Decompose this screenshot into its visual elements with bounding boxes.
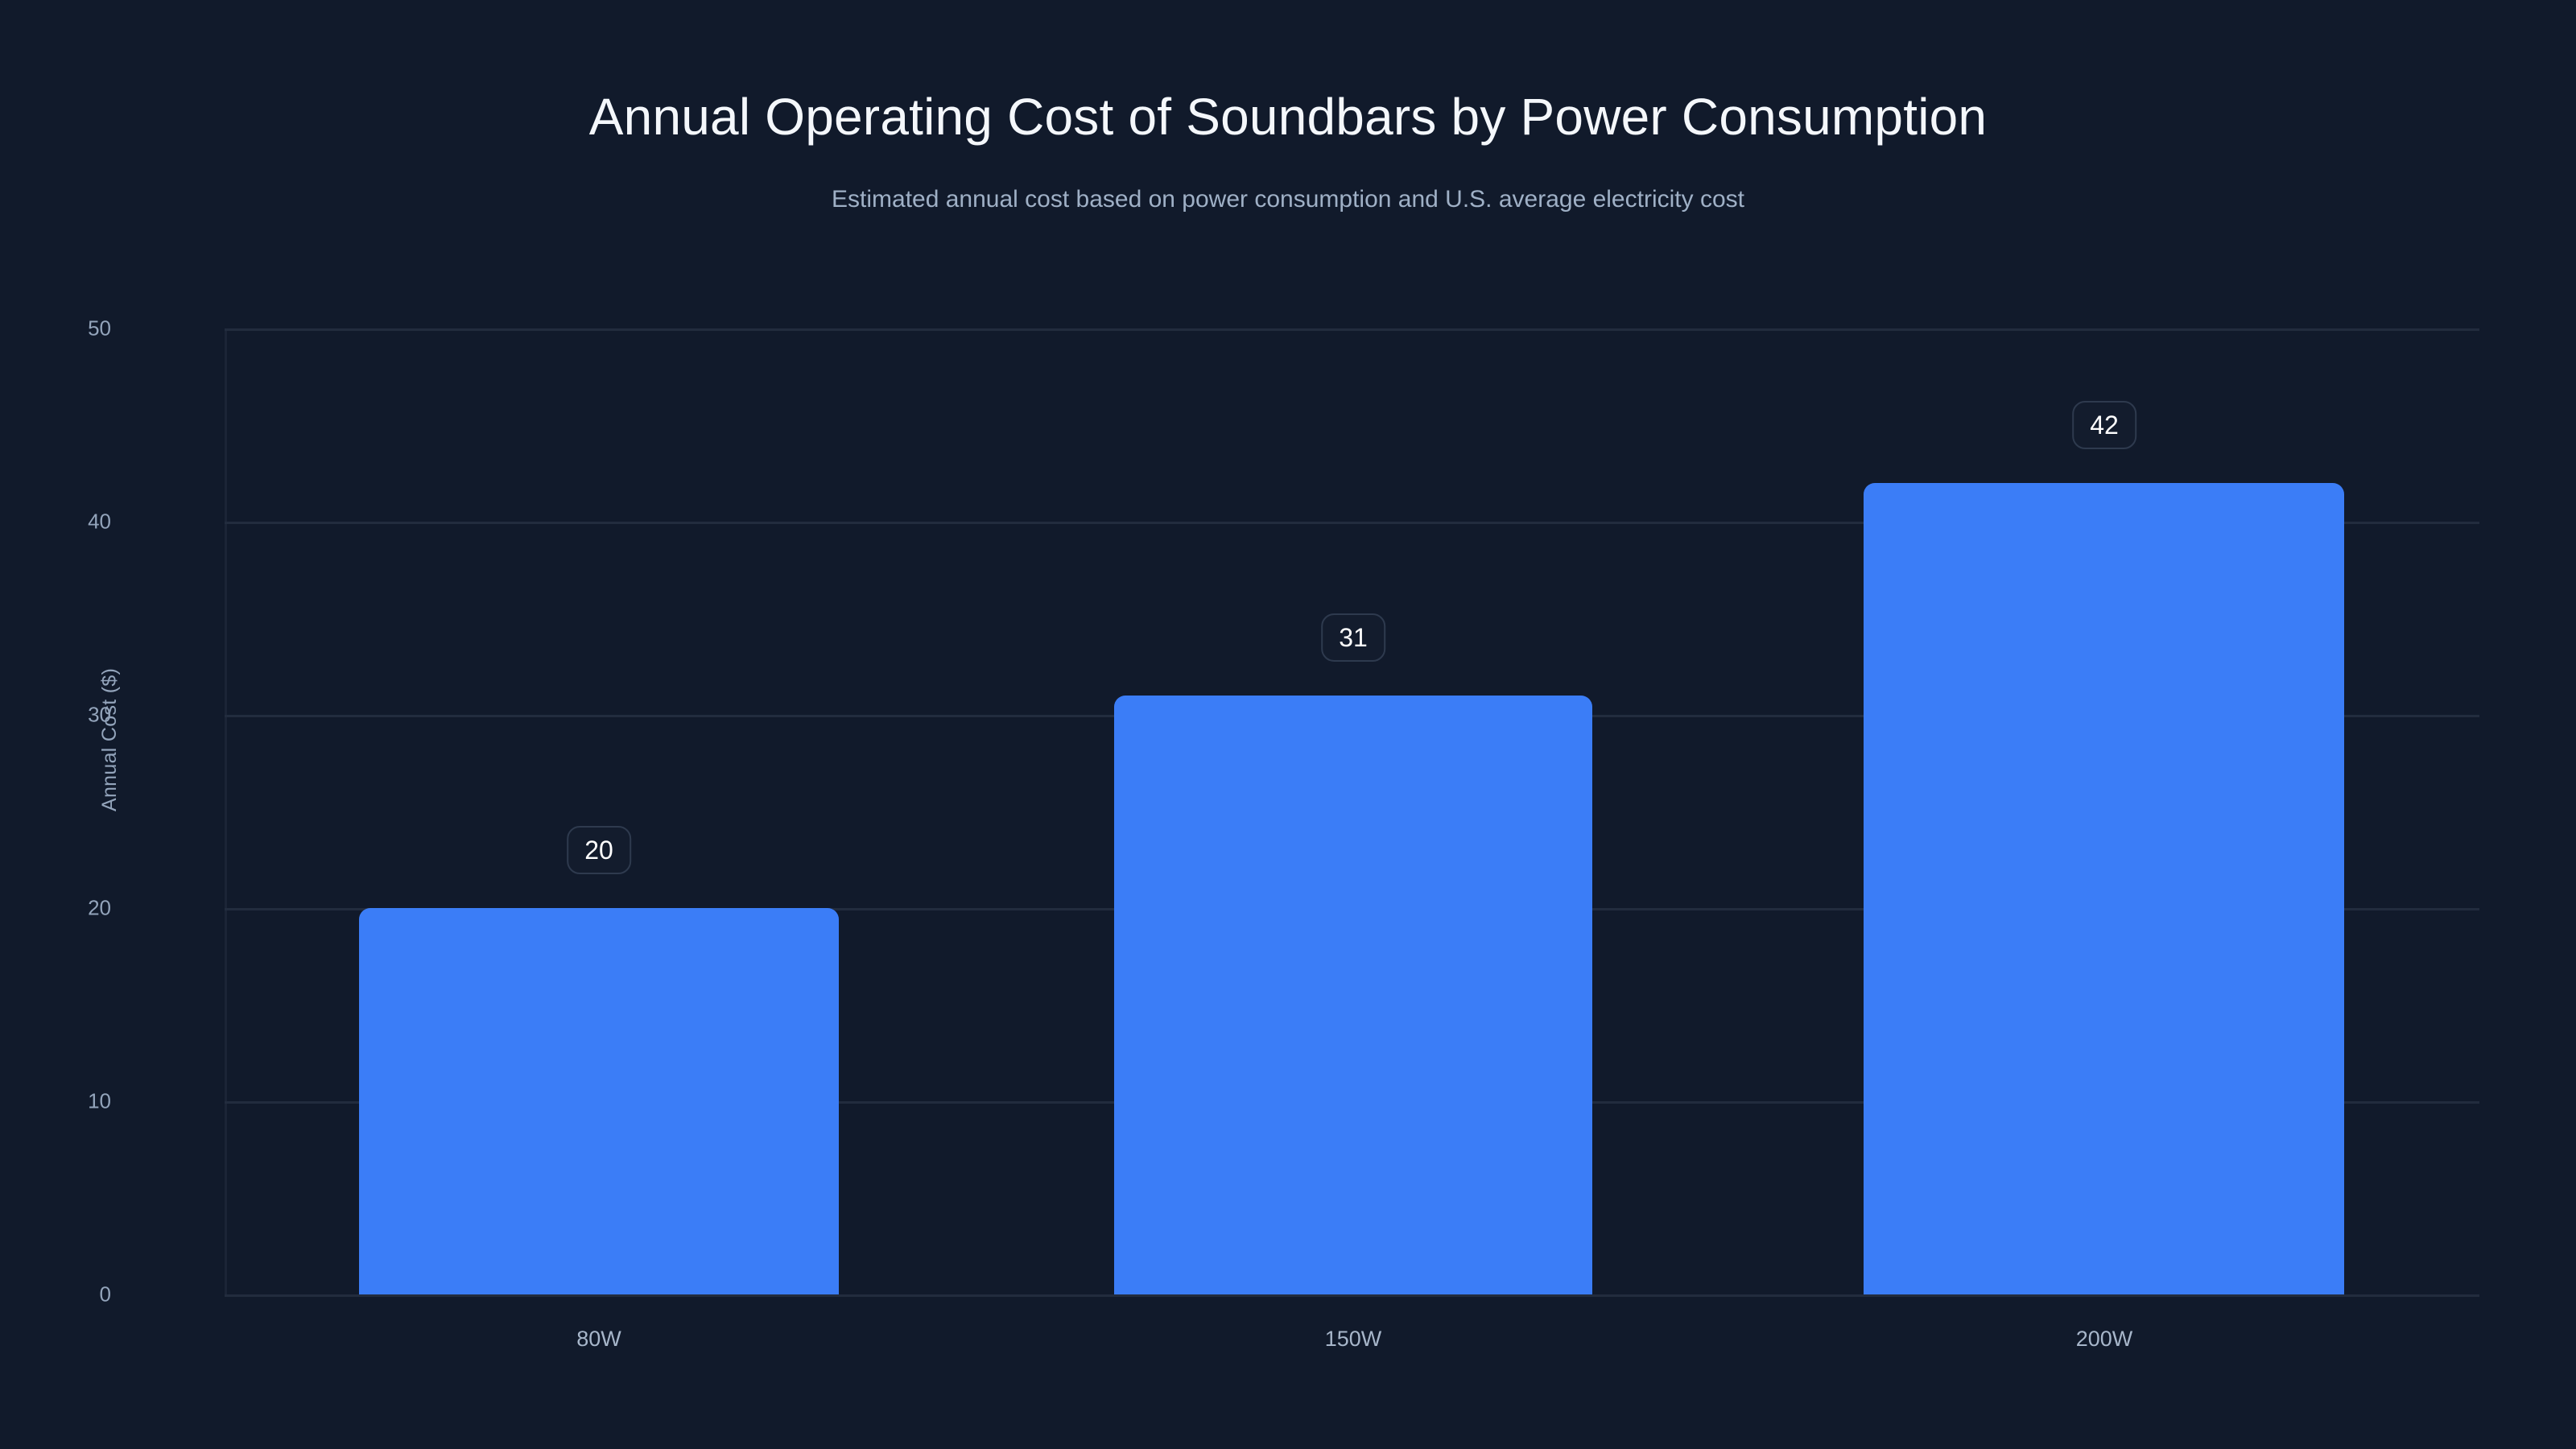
chart-title: Annual Operating Cost of Soundbars by Po… <box>0 0 2576 145</box>
chart-header: Annual Operating Cost of Soundbars by Po… <box>0 0 2576 214</box>
gridline-40 <box>225 522 2479 524</box>
gridline-50 <box>225 328 2479 331</box>
value-badge-80w: 20 <box>567 826 631 874</box>
y-axis-title: Annual Cost ($) <box>98 668 122 811</box>
x-tick-label-150w: 150W <box>1325 1327 1382 1352</box>
value-badge-150w: 31 <box>1321 613 1385 662</box>
x-tick-label-80w: 80W <box>576 1327 621 1352</box>
y-tick-label-50: 50 <box>88 316 111 341</box>
y-tick-label-0: 0 <box>100 1282 111 1307</box>
y-tick-label-40: 40 <box>88 510 111 535</box>
gridline-30 <box>225 715 2479 717</box>
gridline-0 <box>225 1294 2479 1297</box>
gridline-20 <box>225 908 2479 910</box>
y-tick-label-20: 20 <box>88 896 111 921</box>
x-tick-label-200w: 200W <box>2076 1327 2133 1352</box>
y-tick-label-30: 30 <box>88 703 111 728</box>
y-tick-label-10: 10 <box>88 1089 111 1114</box>
plot-area <box>225 328 2479 1294</box>
value-badge-200w: 42 <box>2072 401 2136 449</box>
y-axis-spine <box>225 328 227 1294</box>
chart-subtitle: Estimated annual cost based on power con… <box>0 145 2576 214</box>
gridline-10 <box>225 1101 2479 1104</box>
